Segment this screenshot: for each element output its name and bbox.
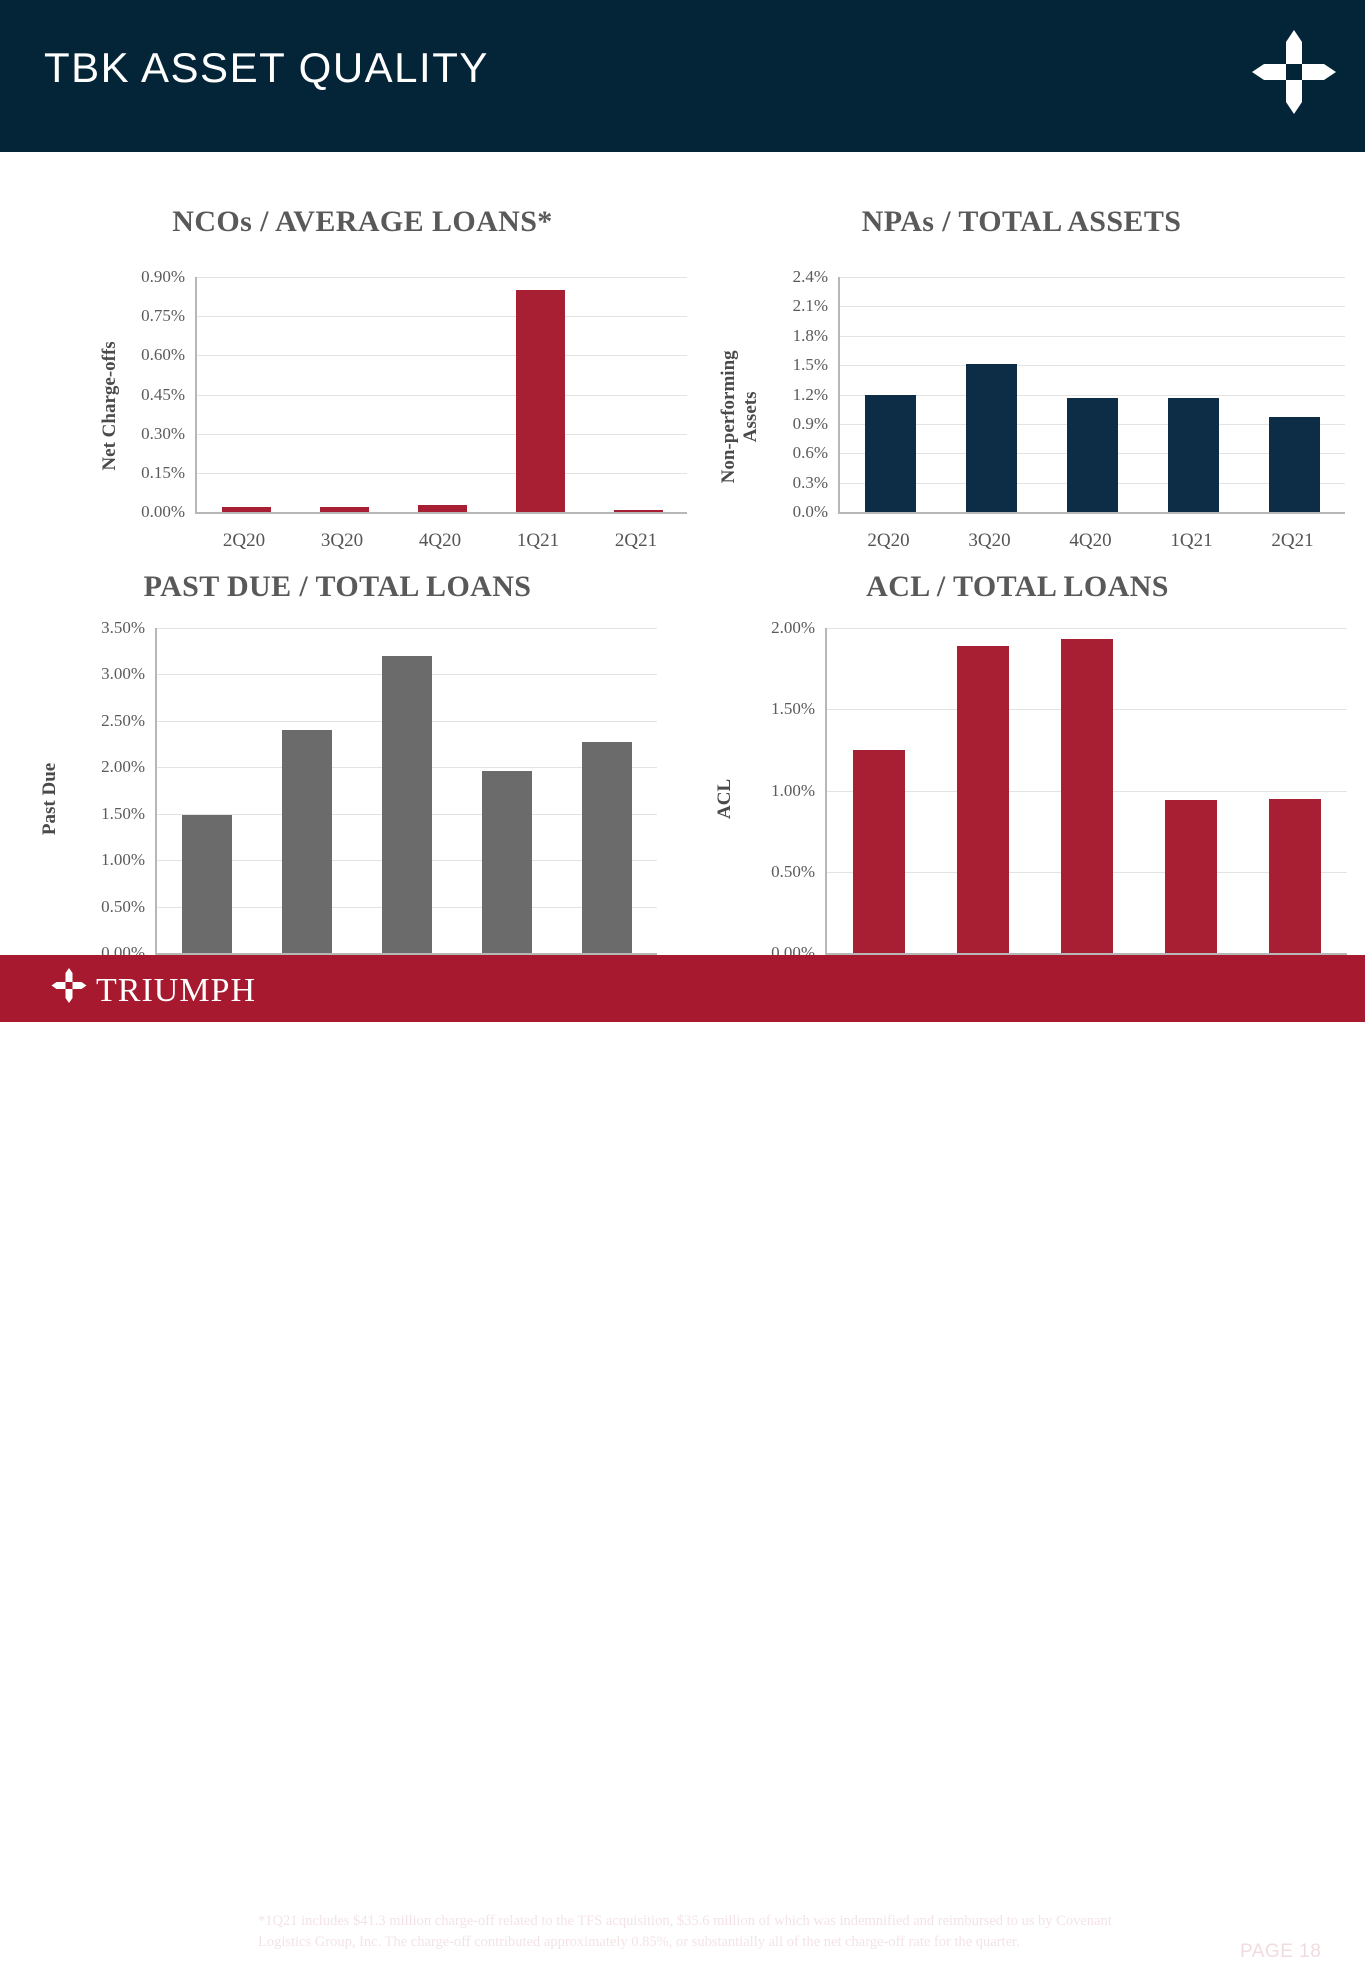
y-axis-tick: 0.50%: [20, 897, 145, 917]
bar-2Q20: [853, 750, 905, 953]
y-axis-tick: 3.00%: [20, 664, 145, 684]
footnote-line-2: Logistics Group, Inc. The charge-off con…: [258, 1932, 1158, 1953]
y-axis-tick: 0.6%: [700, 443, 828, 463]
x-axis-tick: 4Q20: [1040, 530, 1141, 552]
plot-area: [195, 277, 687, 514]
y-axis-tick: 0.15%: [40, 463, 185, 483]
gridline: [840, 336, 1345, 337]
y-axis-tick: 1.8%: [700, 326, 828, 346]
y-axis-tick: 0.50%: [690, 862, 815, 882]
bar-2Q21: [1269, 799, 1321, 953]
y-axis-tick: 0.30%: [40, 424, 185, 444]
bar-4Q20: [1067, 398, 1118, 512]
y-axis-tick: 0.45%: [40, 385, 185, 405]
y-axis-tick: 2.00%: [20, 757, 145, 777]
y-axis-tick: 0.9%: [700, 414, 828, 434]
bar-2Q21: [582, 742, 632, 953]
x-axis-tick: 2Q20: [195, 530, 293, 552]
y-axis-tick: 0.60%: [40, 345, 185, 365]
footnote: *1Q21 includes $41.3 million charge-off …: [258, 1911, 1158, 1953]
y-axis-tick: 0.75%: [40, 306, 185, 326]
gridline: [197, 316, 687, 317]
gridline: [840, 365, 1345, 366]
y-axis-tick: 1.00%: [20, 850, 145, 870]
brand-wordmark: TRIUMPH: [96, 972, 256, 1010]
gridline: [827, 628, 1347, 629]
bar-2Q20: [222, 507, 271, 512]
bar-2Q20: [182, 815, 232, 953]
y-axis-tick: 0.3%: [700, 473, 828, 493]
bar-1Q21: [1165, 800, 1217, 953]
bar-3Q20: [957, 646, 1009, 953]
y-axis-tick: 2.00%: [690, 618, 815, 638]
x-axis-tick: 4Q20: [391, 530, 489, 552]
gridline: [197, 355, 687, 356]
y-axis-tick: 1.00%: [690, 781, 815, 801]
chart-ncos-average-loans: NCOs / AVERAGE LOANS*Net Charge-offs0.00…: [40, 205, 705, 572]
y-axis-tick: 1.50%: [690, 699, 815, 719]
bar-2Q20: [865, 395, 916, 513]
gridline: [840, 306, 1345, 307]
slide-footer: TRIUMPH *1Q21 includes $41.3 million cha…: [0, 955, 1365, 1022]
footnote-line-1: *1Q21 includes $41.3 million charge-off …: [258, 1911, 1158, 1932]
plot-area: [825, 628, 1347, 955]
bar-2Q21: [1269, 417, 1320, 512]
x-axis-tick: 3Q20: [939, 530, 1040, 552]
chart-title: NCOs / AVERAGE LOANS*: [40, 205, 685, 239]
triumph-cross-icon: [47, 967, 91, 1011]
plot-area: [155, 628, 657, 955]
x-axis-tick: 1Q21: [1141, 530, 1242, 552]
y-axis-tick: 1.50%: [20, 804, 145, 824]
gridline: [197, 277, 687, 278]
chart-npas-total-assets: NPAs / TOTAL ASSETSNon-performing Assets…: [700, 205, 1363, 572]
bar-1Q21: [482, 771, 532, 953]
bar-4Q20: [382, 656, 432, 953]
y-axis-tick: 1.2%: [700, 385, 828, 405]
bar-1Q21: [516, 290, 565, 512]
gridline: [840, 395, 1345, 396]
bar-4Q20: [418, 505, 467, 512]
chart-past-due-total-loans: PAST DUE / TOTAL LOANSPast Due0.00%0.50%…: [20, 570, 675, 1013]
y-axis-tick: 2.1%: [700, 296, 828, 316]
x-axis-tick: 2Q21: [1242, 530, 1343, 552]
gridline: [197, 434, 687, 435]
x-axis-tick: 1Q21: [489, 530, 587, 552]
y-axis-tick: 2.4%: [700, 267, 828, 287]
x-axis-tick: 2Q20: [838, 530, 939, 552]
chart-acl-total-loans: ACL / TOTAL LOANSACL0.00%0.50%1.00%1.50%…: [690, 570, 1365, 1013]
plot-area: [838, 277, 1345, 514]
gridline: [197, 473, 687, 474]
bar-3Q20: [320, 507, 369, 512]
x-axis-tick: 3Q20: [293, 530, 391, 552]
chart-title: ACL / TOTAL LOANS: [690, 570, 1345, 604]
gridline: [197, 395, 687, 396]
y-axis-tick: 1.5%: [700, 355, 828, 375]
bar-3Q20: [282, 730, 332, 953]
y-axis-tick: 0.90%: [40, 267, 185, 287]
y-axis-tick: 3.50%: [20, 618, 145, 638]
page-number: PAGE 18: [1240, 1941, 1321, 1963]
chart-title: NPAs / TOTAL ASSETS: [700, 205, 1343, 239]
bar-1Q21: [1168, 398, 1219, 512]
y-axis-tick: 0.00%: [40, 502, 185, 522]
x-axis-tick: 2Q21: [587, 530, 685, 552]
bar-3Q20: [966, 364, 1017, 512]
page-title: TBK ASSET QUALITY: [44, 44, 489, 92]
gridline: [157, 628, 657, 629]
slide-header: TBK ASSET QUALITY: [0, 0, 1365, 152]
chart-title: PAST DUE / TOTAL LOANS: [20, 570, 655, 604]
y-axis-tick: 0.0%: [700, 502, 828, 522]
triumph-cross-icon: [1238, 28, 1350, 132]
bar-2Q21: [614, 510, 663, 512]
y-axis-tick: 2.50%: [20, 711, 145, 731]
bar-4Q20: [1061, 639, 1113, 953]
gridline: [840, 277, 1345, 278]
